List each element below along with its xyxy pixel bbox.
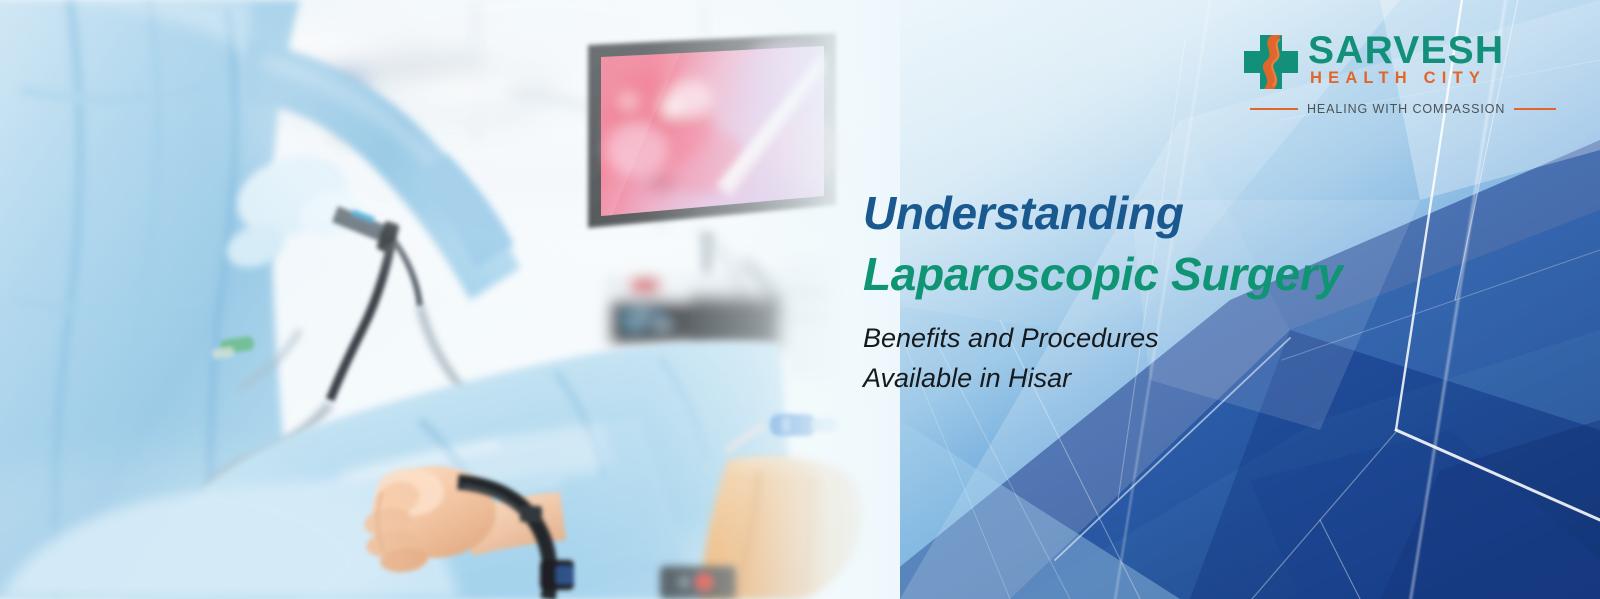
logo-brand-subtitle: HEALTH CITY [1308, 69, 1486, 87]
operating-theatre-photo [0, 0, 900, 599]
logo-brand-name: SARVESH [1308, 29, 1504, 72]
sarvesh-health-city-logo[interactable]: SARVESH HEALTH CITY HEALING WITH COMPASS… [1240, 30, 1580, 130]
headline-line-2: Laparoscopic Surgery [863, 251, 1503, 297]
subheadline-line-1: Benefits and Procedures [863, 319, 1503, 359]
subheadline-block: Benefits and Procedures Available in His… [863, 319, 1503, 399]
headline-block: Understanding Laparoscopic Surgery Benef… [863, 190, 1503, 399]
headline-line-1: Understanding [863, 190, 1503, 236]
logo-tagline: HEALING WITH COMPASSION [1240, 102, 1580, 116]
banner: SARVESH HEALTH CITY HEALING WITH COMPASS… [0, 0, 1600, 599]
tagline-text: HEALING WITH COMPASSION [1307, 102, 1505, 116]
tagline-rule-right [1514, 108, 1556, 111]
tagline-rule-left [1250, 108, 1298, 111]
medical-cross-icon [1240, 31, 1302, 93]
indicator-light [660, 566, 736, 599]
subheadline-line-2: Available in Hisar [863, 359, 1503, 399]
